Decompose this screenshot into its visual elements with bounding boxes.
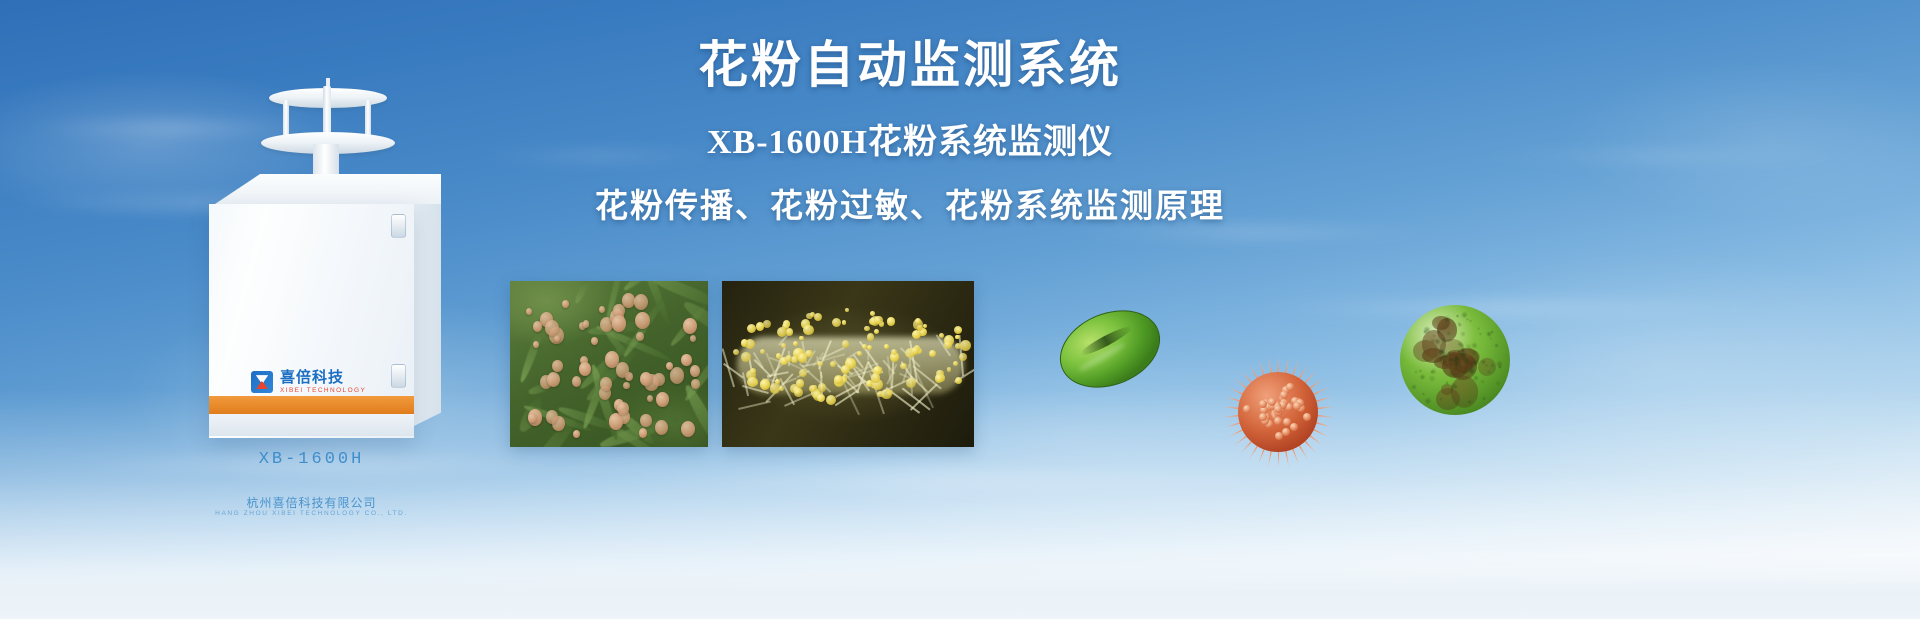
catkin-anther xyxy=(944,341,952,349)
sphere-pore xyxy=(1414,370,1419,375)
cypress-cone xyxy=(623,382,630,390)
sphere-pore xyxy=(1445,381,1449,385)
catkin-anther xyxy=(760,379,770,389)
sphere-pore xyxy=(1495,381,1501,387)
catkin-anther xyxy=(747,324,756,333)
xibei-logo-icon xyxy=(251,371,273,393)
sphere-pore xyxy=(1423,330,1427,334)
sphere-pore xyxy=(1460,350,1467,357)
catkin-anther xyxy=(857,351,862,356)
sphere-pore xyxy=(1422,392,1425,395)
photo-catkin-flower xyxy=(722,281,974,447)
sphere-pore xyxy=(1480,379,1485,384)
cypress-cone xyxy=(681,354,692,367)
sampler-neck xyxy=(313,144,339,178)
sphere-pore xyxy=(1457,342,1461,346)
catkin-anther xyxy=(779,386,784,391)
sphere-pore xyxy=(1430,368,1437,375)
cypress-cone xyxy=(583,320,589,327)
cypress-cone xyxy=(622,293,635,308)
cypress-cone xyxy=(691,379,699,389)
sphere-pore xyxy=(1419,374,1426,381)
catkin-anther xyxy=(834,375,843,384)
catkin-anther xyxy=(817,361,822,366)
sphere-pore xyxy=(1465,343,1472,350)
cypress-cone xyxy=(640,372,652,386)
catkin-anther xyxy=(955,335,959,339)
catkin-anther xyxy=(781,343,786,348)
catkin-anther xyxy=(794,388,803,397)
catkin-anther xyxy=(956,327,962,333)
catkin-anther xyxy=(791,356,797,362)
pollen-bump xyxy=(1274,405,1282,413)
sphere-pore xyxy=(1418,369,1422,373)
catkin-anther xyxy=(906,378,916,388)
device-model: XB-1600H xyxy=(209,450,414,469)
sphere-pore xyxy=(1437,329,1442,334)
cypress-cone xyxy=(528,413,537,423)
catkin-anther xyxy=(881,389,892,400)
cypress-cone xyxy=(562,300,569,308)
device-company-cn: 杭州喜倍科技有限公司 xyxy=(209,494,414,511)
cabinet-side-panel xyxy=(414,204,441,426)
sphere-pore xyxy=(1481,359,1486,364)
cypress-cone xyxy=(635,312,650,329)
catkin-anther xyxy=(874,316,882,324)
cloud-shape xyxy=(1560,60,1920,220)
cypress-cone xyxy=(573,430,580,438)
catkin-anther xyxy=(867,345,872,350)
cabinet-foot xyxy=(209,414,414,436)
catkin-anther xyxy=(845,308,849,312)
brand-name-en: XIBEI TECHNOLOGY xyxy=(280,388,366,395)
oval-pollen-grain xyxy=(1048,296,1171,402)
sphere-pore xyxy=(1440,337,1447,344)
sphere-pore xyxy=(1489,337,1492,340)
sphere-pore xyxy=(1468,366,1476,374)
catkin-anther xyxy=(864,326,869,331)
catkin-anther xyxy=(798,353,808,363)
catkin-anther xyxy=(756,322,765,331)
cypress-cone xyxy=(617,402,629,416)
catkin-anther xyxy=(803,325,813,335)
sphere-pore xyxy=(1457,322,1460,325)
catkin-anther xyxy=(796,379,805,388)
sphere-pore xyxy=(1456,314,1460,318)
catkin-anther xyxy=(867,333,875,341)
cypress-cone xyxy=(616,362,629,377)
pollen-monitor-device: 喜倍科技 XIBEI TECHNOLOGY 花粉自动监测系统 XB-1600H … xyxy=(195,78,455,438)
cabinet-orange-band xyxy=(209,396,414,414)
catkin-anther xyxy=(874,329,879,334)
cypress-cone xyxy=(547,372,560,387)
catkin-anther xyxy=(911,347,919,355)
cabinet-latch[interactable] xyxy=(391,214,406,238)
pollen-bump xyxy=(1282,428,1290,436)
cypress-cone xyxy=(572,376,581,387)
pollen-monitoring-banner: 花粉自动监测系统 XB-1600H花粉系统监测仪 花粉传播、花粉过敏、花粉系统监… xyxy=(0,0,1920,619)
cabinet-top-panel xyxy=(209,174,441,208)
cloud-wisp xyxy=(1460,150,1860,162)
sphere-pore xyxy=(1411,384,1417,390)
pollen-bump xyxy=(1268,398,1276,406)
sphere-pore xyxy=(1498,365,1502,369)
photo-cypress-cones xyxy=(510,281,708,447)
spiky-pollen-grain xyxy=(1222,356,1334,468)
catkin-anther xyxy=(887,317,895,325)
brand-text: 喜倍科技 XIBEI TECHNOLOGY xyxy=(280,370,366,395)
cypress-cone xyxy=(636,332,643,340)
sphere-pore xyxy=(1494,343,1499,348)
textured-pollen-sphere xyxy=(1400,305,1510,415)
cloud-wisp xyxy=(600,470,1300,490)
cypress-cone xyxy=(579,362,591,376)
catkin-anther xyxy=(842,340,849,347)
catkin-anther xyxy=(862,344,867,349)
brand-name-cn: 喜倍科技 xyxy=(280,370,366,386)
pollen-bump xyxy=(1274,417,1282,425)
sphere-pore xyxy=(1432,334,1436,338)
cypress-cone xyxy=(545,320,559,336)
headline-block: 花粉自动监测系统 XB-1600H花粉系统监测仪 花粉传播、花粉过敏、花粉系统监… xyxy=(560,34,1260,228)
sphere-pore xyxy=(1460,331,1466,337)
catkin-anther xyxy=(955,343,961,349)
cypress-cone xyxy=(599,306,605,313)
sphere-pore xyxy=(1487,370,1491,374)
catkin-anther xyxy=(923,324,927,328)
bottom-fade-band xyxy=(0,555,1920,619)
sphere-pore xyxy=(1477,327,1480,330)
catkin-anther xyxy=(782,323,789,330)
sphere-pore xyxy=(1464,368,1467,371)
catkin-anther xyxy=(900,363,907,370)
pollen-bump xyxy=(1283,418,1291,426)
sphere-pore xyxy=(1424,397,1432,405)
cypress-cone xyxy=(609,413,623,429)
sphere-pore xyxy=(1430,338,1436,344)
catkin-anther xyxy=(832,318,841,327)
cypress-cone xyxy=(656,392,669,407)
catkin-anther xyxy=(947,367,952,372)
sphere-pore xyxy=(1428,375,1436,383)
sphere-body xyxy=(1400,305,1510,415)
catkin-anther xyxy=(929,350,936,357)
catkin-anther xyxy=(763,320,771,328)
catkin-anther xyxy=(799,336,804,341)
sphere-pore xyxy=(1482,396,1487,401)
sphere-pore xyxy=(1473,375,1479,381)
catkin-anther xyxy=(750,368,756,374)
banner-title: 花粉自动监测系统 xyxy=(560,34,1260,97)
cypress-cone xyxy=(670,367,684,384)
catkin-anther xyxy=(785,355,792,362)
banner-description: 花粉传播、花粉过敏、花粉系统监测原理 xyxy=(560,185,1260,228)
cypress-cone xyxy=(640,414,652,427)
brand-lockup: 喜倍科技 XIBEI TECHNOLOGY xyxy=(251,370,366,395)
cypress-cone xyxy=(683,318,697,334)
catkin-anther xyxy=(935,374,944,383)
banner-subtitle: XB-1600H花粉系统监测仪 xyxy=(560,121,1260,165)
oval-pollen-body xyxy=(1048,296,1171,402)
sphere-blotch xyxy=(1451,376,1479,408)
catkin-anther xyxy=(741,352,750,361)
sphere-pore xyxy=(1443,315,1451,323)
catkin-anther xyxy=(741,339,749,347)
catkin-anther xyxy=(842,320,846,324)
device-company-en: HANG ZHOU XIBEI TECHNOLOGY CO., LTD. xyxy=(209,510,414,517)
sphere-pore xyxy=(1479,332,1482,335)
cabinet-latch[interactable] xyxy=(391,364,406,388)
pollen-bump xyxy=(1275,432,1283,440)
sphere-pore xyxy=(1469,319,1473,323)
